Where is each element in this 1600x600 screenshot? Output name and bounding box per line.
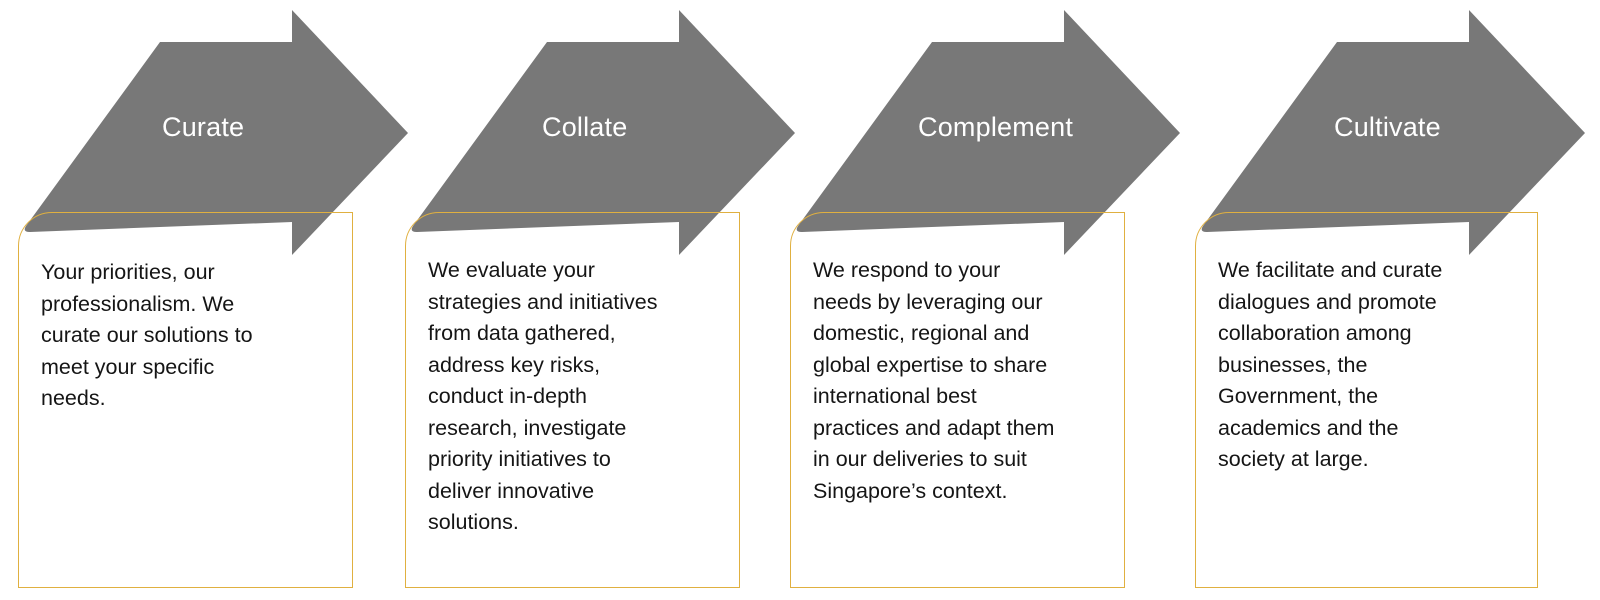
- card-text-collate: We evaluate your strategies and initiati…: [428, 255, 731, 539]
- step-group-complement: Complement We respond to your needs by l…: [772, 0, 1172, 600]
- diagram-canvas: Curate Your priorities, our professional…: [0, 0, 1600, 600]
- card-text-cultivate: We facilitate and curate dialogues and p…: [1218, 255, 1529, 476]
- card-collate: We evaluate your strategies and initiati…: [405, 212, 740, 588]
- card-text-curate: Your priorities, our professionalism. We…: [41, 257, 344, 415]
- card-cultivate: We facilitate and curate dialogues and p…: [1195, 212, 1538, 588]
- step-group-curate: Curate Your priorities, our professional…: [0, 0, 400, 600]
- card-complement: We respond to your needs by leveraging o…: [790, 212, 1125, 588]
- step-group-cultivate: Cultivate We facilitate and curate dialo…: [1177, 0, 1577, 600]
- card-text-complement: We respond to your needs by leveraging o…: [813, 255, 1116, 507]
- card-curate: Your priorities, our professionalism. We…: [18, 212, 353, 588]
- step-group-collate: Collate We evaluate your strategies and …: [387, 0, 787, 600]
